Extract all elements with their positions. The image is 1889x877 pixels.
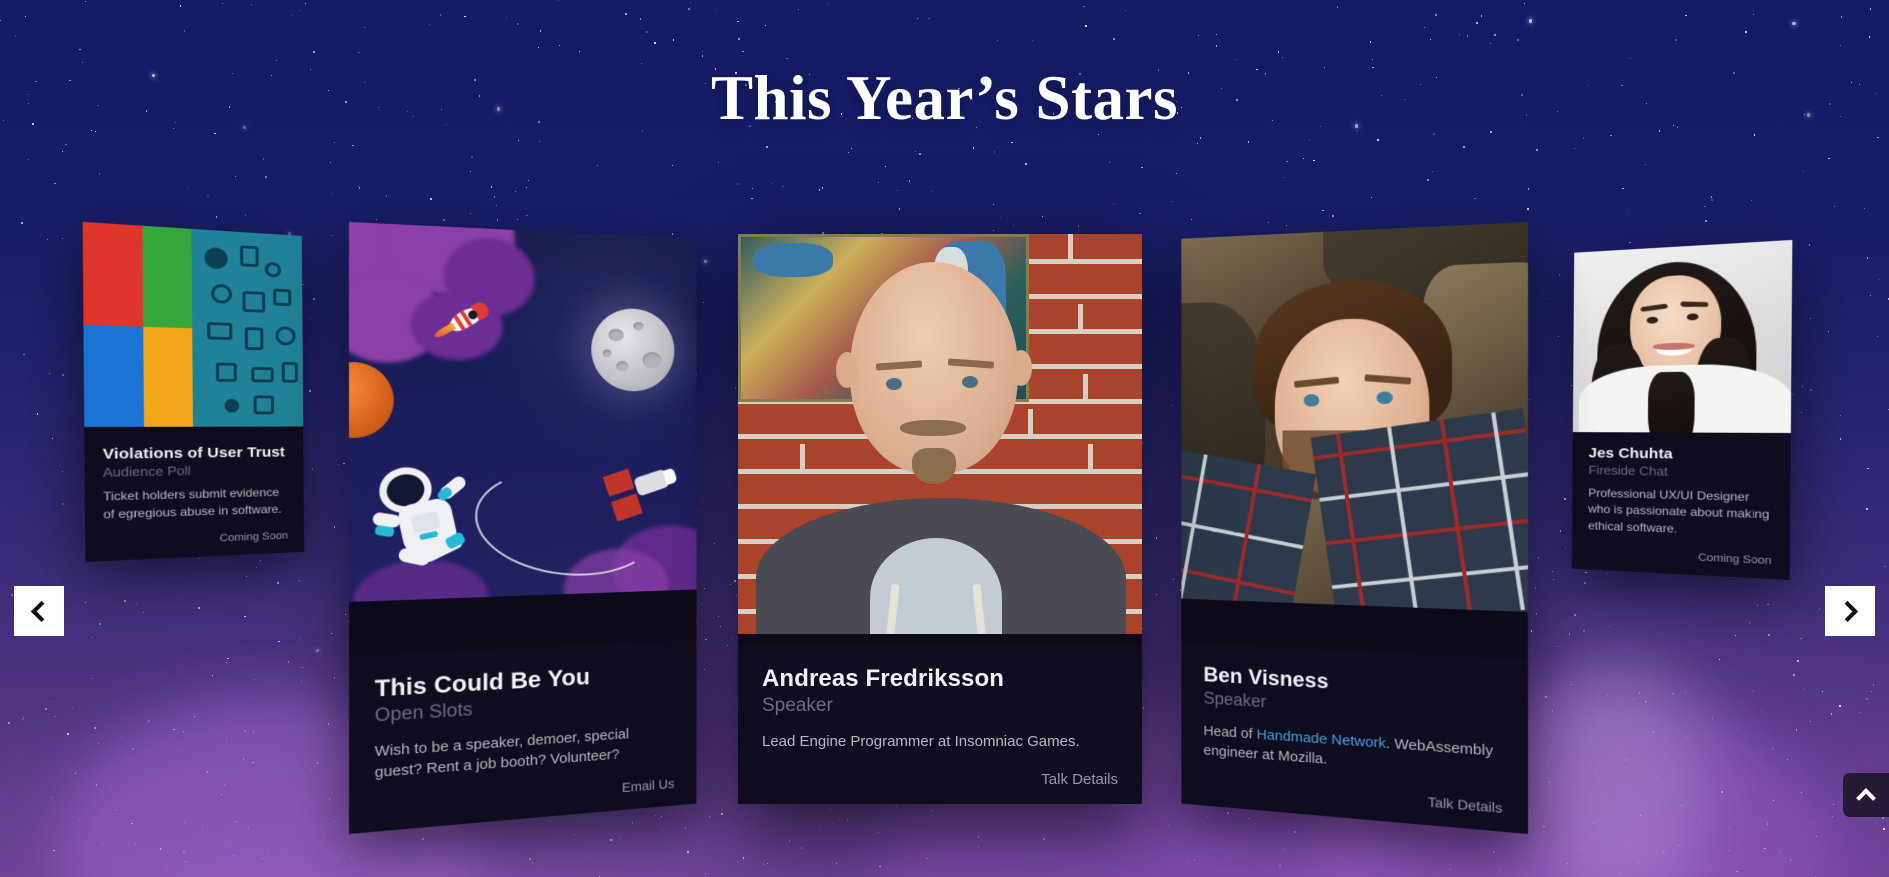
card-meta: Jes Chuhta Fireside Chat Professional UX… bbox=[1572, 432, 1791, 580]
colorful-tech-logo-grid-icon bbox=[83, 222, 304, 427]
scroll-to-top-button[interactable] bbox=[1843, 773, 1889, 817]
card-role: Open Slots bbox=[375, 687, 675, 727]
carousel-card[interactable]: Violations of User Trust Audience Poll T… bbox=[83, 222, 305, 562]
card-cta[interactable]: Coming Soon bbox=[103, 530, 288, 549]
card-description: Professional UX/UI Designer who is passi… bbox=[1588, 485, 1772, 541]
portrait-man-brick-wall-icon bbox=[738, 234, 1142, 634]
card-description: Head of Handmade Network. WebAssembly en… bbox=[1203, 721, 1502, 784]
card-cta[interactable]: Talk Details bbox=[1203, 776, 1502, 816]
portrait-man-rocks-icon bbox=[1181, 222, 1528, 612]
card-description: Lead Engine Programmer at Insomniac Game… bbox=[762, 731, 1118, 753]
card-title: Violations of User Trust bbox=[103, 444, 288, 462]
card-role: Fireside Chat bbox=[1588, 463, 1772, 481]
card-description: Ticket holders submit evidence of egregi… bbox=[103, 485, 288, 524]
portrait-woman-white-background-icon bbox=[1573, 240, 1793, 445]
card-title: Andreas Fredriksson bbox=[762, 665, 1118, 693]
card-image bbox=[349, 222, 696, 602]
card-role: Audience Poll bbox=[103, 462, 288, 480]
card-cta[interactable]: Email Us bbox=[375, 776, 675, 816]
chevron-left-icon bbox=[31, 600, 52, 621]
carousel-card[interactable]: Jes Chuhta Fireside Chat Professional UX… bbox=[1572, 240, 1793, 580]
card-image bbox=[738, 234, 1142, 634]
chevron-right-icon bbox=[1837, 600, 1858, 621]
card-meta: Andreas Fredriksson Speaker Lead Engine … bbox=[738, 645, 1142, 804]
card-image bbox=[1181, 222, 1528, 612]
card-role: Speaker bbox=[762, 695, 1118, 717]
card-title: Ben Visness bbox=[1203, 662, 1502, 704]
carousel-prev-button[interactable] bbox=[14, 586, 64, 636]
card-cta[interactable]: Coming Soon bbox=[1588, 547, 1772, 567]
handmade-network-link[interactable]: Handmade Network bbox=[1257, 726, 1386, 751]
carousel-card-active[interactable]: Andreas Fredriksson Speaker Lead Engine … bbox=[738, 234, 1142, 804]
carousel-card[interactable]: This Could Be You Open Slots Wish to be … bbox=[349, 222, 696, 834]
card-meta: This Could Be You Open Slots Wish to be … bbox=[349, 640, 696, 834]
card-meta: Ben Visness Speaker Head of Handmade Net… bbox=[1181, 642, 1528, 834]
page-title: This Year’s Stars bbox=[0, 62, 1889, 135]
card-title: This Could Be You bbox=[375, 659, 675, 703]
card-image bbox=[83, 222, 304, 427]
carousel-next-button[interactable] bbox=[1825, 586, 1875, 636]
card-description: Wish to be a speaker, demoer, special gu… bbox=[375, 721, 675, 784]
chevron-up-icon bbox=[1856, 788, 1876, 808]
card-image bbox=[1573, 240, 1793, 445]
card-meta: Violations of User Trust Audience Poll T… bbox=[84, 431, 304, 562]
astronaut-space-illustration-icon bbox=[349, 222, 696, 602]
card-title: Jes Chuhta bbox=[1589, 445, 1773, 464]
card-role: Speaker bbox=[1203, 688, 1502, 727]
card-cta[interactable]: Talk Details bbox=[762, 771, 1118, 788]
carousel-card[interactable]: Ben Visness Speaker Head of Handmade Net… bbox=[1181, 222, 1528, 834]
